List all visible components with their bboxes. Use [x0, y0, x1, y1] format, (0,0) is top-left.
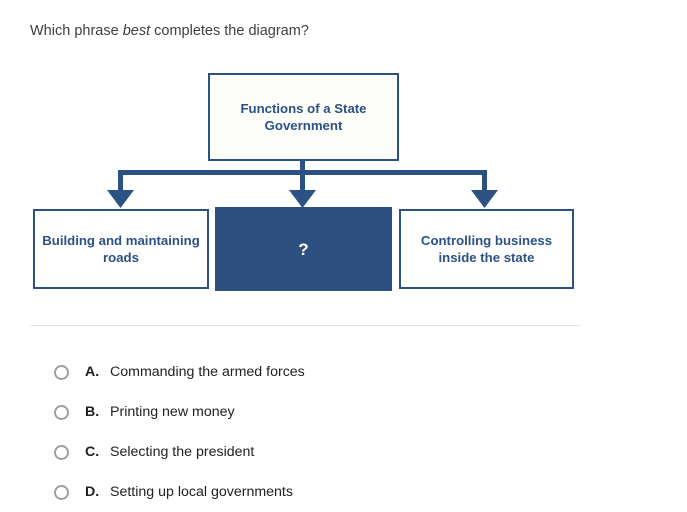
diagram-node-root: Functions of a State Government — [208, 73, 399, 161]
option-letter-a: A. — [85, 364, 99, 380]
radio-button-c[interactable] — [54, 445, 69, 460]
radio-button-d[interactable] — [54, 485, 69, 500]
option-d[interactable]: D. Setting up local governments — [0, 472, 687, 512]
option-b[interactable]: B. Printing new money — [0, 392, 687, 432]
diagram-node-blank: ? — [215, 207, 392, 291]
diagram-node-business: Controlling business inside the state — [399, 209, 574, 289]
section-divider — [30, 325, 580, 326]
option-letter-d: D. — [85, 484, 99, 500]
org-chart-diagram: Functions of a State Government Building… — [0, 0, 687, 310]
option-a[interactable]: A. Commanding the armed forces — [0, 352, 687, 392]
option-c[interactable]: C. Selecting the president — [0, 432, 687, 472]
option-text-b: Printing new money — [110, 404, 235, 420]
option-letter-c: C. — [85, 444, 99, 460]
option-text-a: Commanding the armed forces — [110, 364, 305, 380]
option-text-d: Setting up local governments — [110, 484, 293, 500]
radio-button-a[interactable] — [54, 365, 69, 380]
answer-options: A. Commanding the armed forces B. Printi… — [0, 352, 687, 512]
option-text-c: Selecting the president — [110, 444, 254, 460]
diagram-node-roads: Building and maintaining roads — [33, 209, 209, 289]
radio-button-b[interactable] — [54, 405, 69, 420]
option-letter-b: B. — [85, 404, 99, 420]
